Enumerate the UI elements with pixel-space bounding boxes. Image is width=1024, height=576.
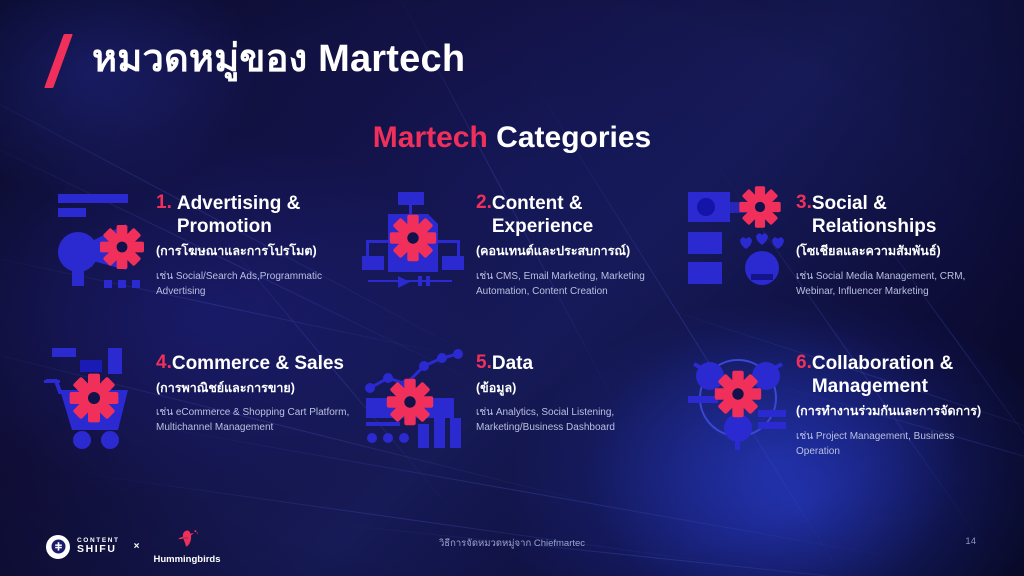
category-number: 5. [476,352,492,375]
category-item[interactable]: 4.Commerce & Sales(การพาณิชย์และการขาย)เ… [38,340,358,500]
category-thai-label: (ข้อมูล) [476,380,672,396]
category-example: เช่น Project Management, Business Operat… [796,429,992,459]
category-heading: 3.Social & Relationships [796,192,992,238]
category-item[interactable]: 3.Social & Relationships(โซเชียลและความส… [678,180,998,340]
document-hierarchy-gear-icon [358,180,476,295]
category-heading: 5.Data [476,352,672,375]
category-thai-label: (การโฆษณาและการโปรโมต) [156,243,352,259]
category-text: 1.Advertising & Promotion(การโฆษณาและการ… [156,180,358,299]
subtitle-rest: Categories [488,121,651,154]
slide-canvas: หมวดหมู่ของ Martech Martech Categories 1… [0,0,1024,576]
network-collaboration-gear-icon [678,340,796,455]
category-number: 4. [156,352,172,375]
category-example: เช่น CMS, Email Marketing, Marketing Aut… [476,269,672,299]
category-heading: 1.Advertising & Promotion [156,192,352,238]
category-grid: 1.Advertising & Promotion(การโฆษณาและการ… [38,180,998,500]
category-text: 4.Commerce & Sales(การพาณิชย์และการขาย)เ… [156,340,358,435]
category-example: เช่น Social Media Management, CRM, Webin… [796,269,992,299]
category-title: Advertising & Promotion [177,192,352,238]
subtitle-highlight: Martech [373,121,488,154]
slide-footer: CONTENT SHIFU × Hummingbirds วิธีการจัดห… [0,514,1024,576]
section-subtitle: Martech Categories [0,120,1024,156]
slide-header: หมวดหมู่ของ Martech [50,34,465,86]
category-title: Social & Relationships [812,192,992,238]
category-item[interactable]: 1.Advertising & Promotion(การโฆษณาและการ… [38,180,358,340]
megaphone-gear-icon [38,180,156,295]
category-number: 3. [796,192,812,215]
page-title: หมวดหมู่ของ Martech [92,39,465,81]
category-thai-label: (การทำงานร่วมกันและการจัดการ) [796,403,992,419]
category-thai-label: (การพาณิชย์และการขาย) [156,380,352,396]
category-heading: 6.Collaboration & Management [796,352,992,398]
category-number: 1. [156,192,172,215]
category-number: 6. [796,352,812,375]
slash-accent-icon [50,34,76,86]
hummingbirds-wordmark: Hummingbirds [153,554,220,565]
category-text: 5.Data(ข้อมูล)เช่น Analytics, Social Lis… [476,340,678,435]
shopping-cart-gear-icon [38,340,156,455]
category-thai-label: (โซเชียลและความสัมพันธ์) [796,243,992,259]
category-title: Commerce & Sales [172,352,344,375]
category-number: 2. [476,192,492,215]
social-hearts-gear-icon [678,180,796,295]
category-example: เช่น eCommerce & Shopping Cart Platform,… [156,405,352,435]
category-item[interactable]: 6.Collaboration & Management(การทำงานร่ว… [678,340,998,500]
category-item[interactable]: 2.Content & Experience(คอนเทนต์และประสบก… [358,180,678,340]
category-example: เช่น Analytics, Social Listening, Market… [476,405,672,435]
category-text: 3.Social & Relationships(โซเชียลและความส… [796,180,998,299]
analytics-dashboard-gear-icon [358,340,476,455]
category-heading: 2.Content & Experience [476,192,672,238]
category-title: Content & Experience [492,192,672,238]
category-text: 6.Collaboration & Management(การทำงานร่ว… [796,340,998,459]
footer-source-text: วิธีการจัดหมวดหมู่จาก Chiefmartec [0,536,1024,551]
category-text: 2.Content & Experience(คอนเทนต์และประสบก… [476,180,678,299]
category-heading: 4.Commerce & Sales [156,352,352,375]
page-number: 14 [965,536,976,547]
category-title: Data [492,352,533,375]
category-thai-label: (คอนเทนต์และประสบการณ์) [476,243,672,259]
category-item[interactable]: 5.Data(ข้อมูล)เช่น Analytics, Social Lis… [358,340,678,500]
category-example: เช่น Social/Search Ads,Programmatic Adve… [156,269,352,299]
category-title: Collaboration & Management [812,352,992,398]
